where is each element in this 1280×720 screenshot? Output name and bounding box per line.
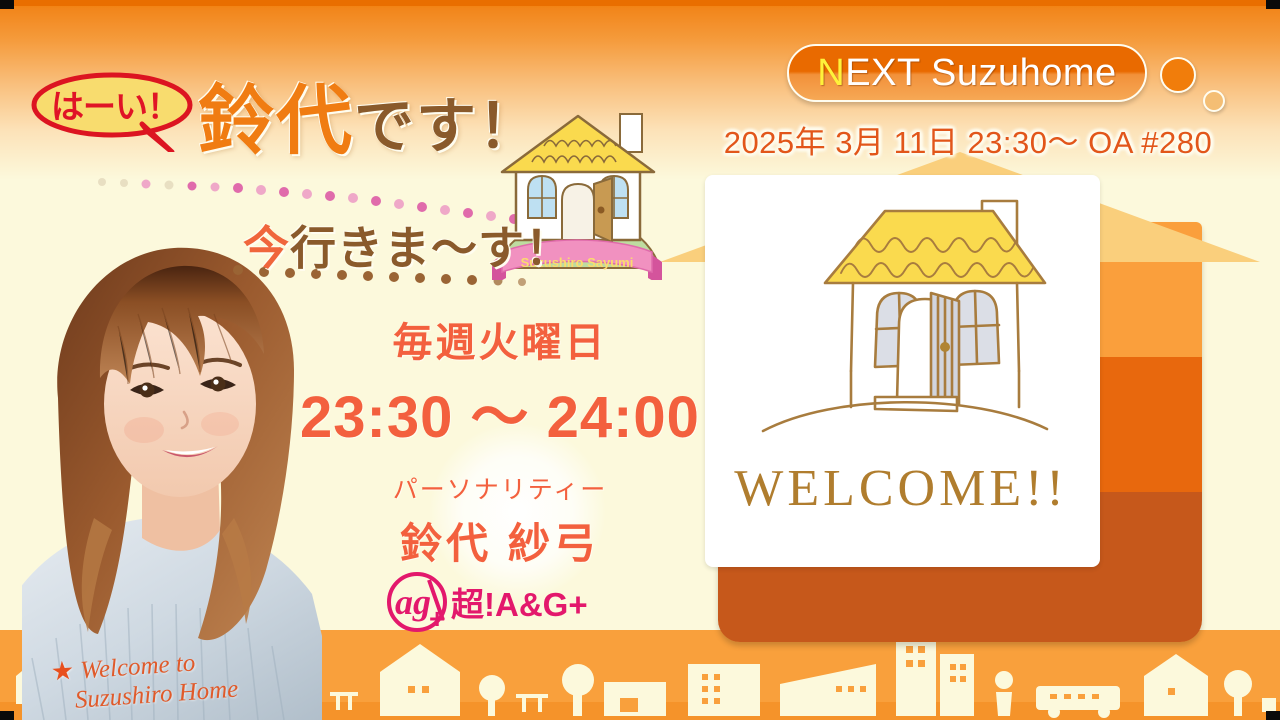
svg-text:+: +: [429, 603, 445, 634]
speech-bubble-text: はーい！: [30, 72, 200, 136]
show-title-sub: 今行きま～す！: [243, 212, 572, 278]
welcome-text: WELCOME!!: [734, 460, 1067, 517]
next-suzuhome-label: NEXT Suzuhome: [817, 52, 1116, 95]
show-title-desu: です！: [354, 93, 540, 160]
ag-mark: ag: [395, 582, 431, 622]
decorative-dot-large: [1160, 57, 1196, 93]
next-suzuhome-badge[interactable]: NEXT Suzuhome: [787, 44, 1147, 102]
top-left-black-corner: [0, 0, 14, 9]
broadcast-time: 23:30 ～ 24:00: [300, 370, 700, 454]
bottom-right-black-corner: [1266, 711, 1280, 720]
oa-date-text: 2025年 3月 11日 23:30〜 OA #280: [724, 117, 1213, 162]
bottom-left-black-corner: [0, 711, 14, 720]
show-title-kanji: 鈴代: [198, 79, 354, 164]
welcome-house-drawing: WELCOME!!: [705, 175, 1100, 567]
top-hairline: [0, 0, 1280, 6]
next-badge-first-letter: N: [817, 52, 845, 94]
speech-bubble: はーい！: [30, 72, 200, 148]
next-badge-rest: EXT Suzuhome: [845, 52, 1116, 94]
decorative-dot-small: [1203, 90, 1225, 112]
star-icon: ★: [50, 656, 75, 687]
show-title-sub-rest: 行きま～す！: [290, 222, 572, 274]
top-right-black-corner: [1266, 0, 1280, 9]
show-title-main: 鈴代です！: [198, 84, 540, 160]
broadcast-day: 毎週火曜日: [300, 310, 700, 368]
oa-date-line: 2025年 3月 11日 23:30〜 OA #280: [688, 117, 1248, 161]
broadcast-title-card: はーい！ 鈴代です！ 今行きま～す！: [0, 0, 1280, 720]
broadcast-info-block: 毎週火曜日 23:30 ～ 24:00 パーソナリティー 鈴代 紗弓: [300, 310, 700, 571]
personality-name: 鈴代 紗弓: [300, 510, 700, 571]
welcome-artwork-card: WELCOME!!: [705, 175, 1100, 567]
show-title-sub-highlight: 今: [243, 222, 290, 274]
personality-label: パーソナリティー: [300, 470, 700, 506]
station-logo-text: 超!A&G+: [451, 586, 588, 623]
station-logo: ag + 超!A&G+: [383, 572, 613, 634]
